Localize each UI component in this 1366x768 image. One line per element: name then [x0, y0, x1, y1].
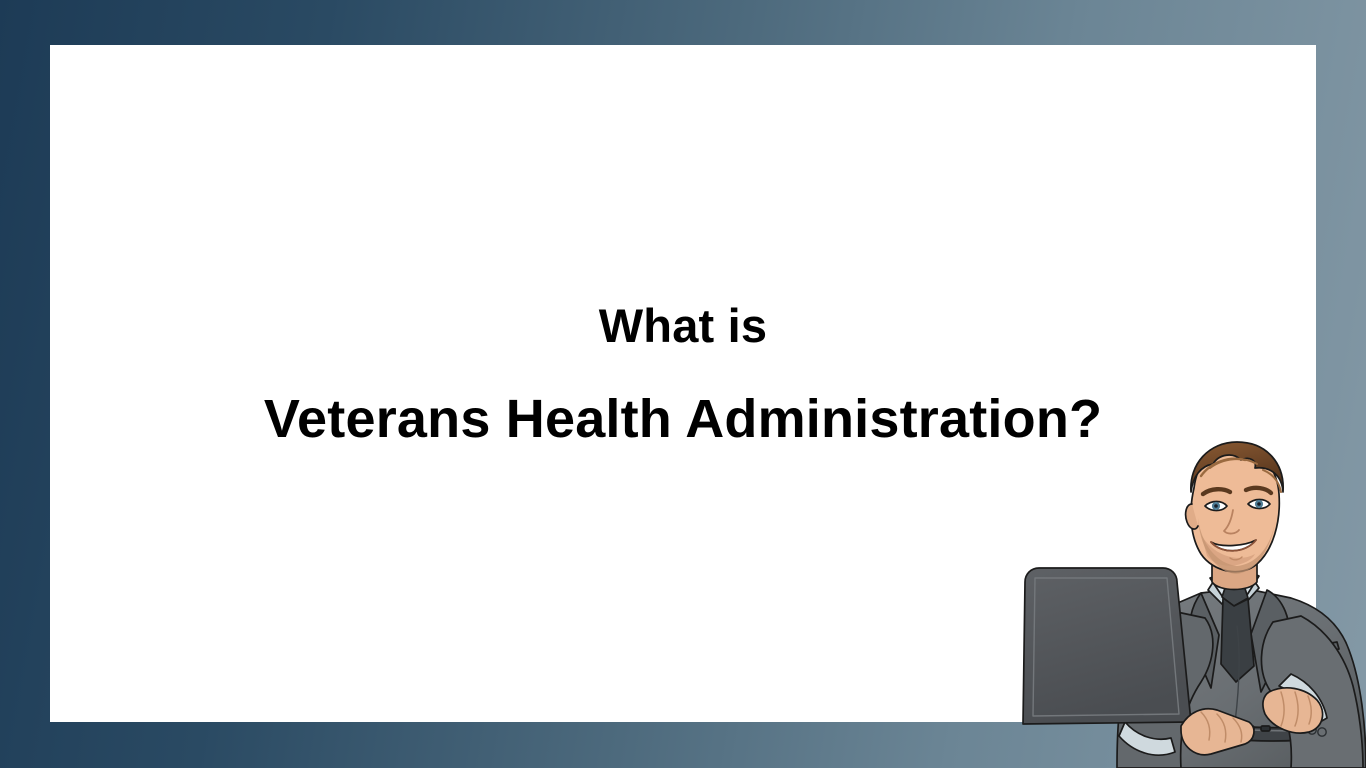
presentation-slide: What is Veterans Health Administration?: [0, 0, 1366, 768]
slide-content-card: What is Veterans Health Administration?: [50, 45, 1316, 722]
title-line-2: Veterans Health Administration?: [50, 390, 1316, 449]
title-line-1: What is: [50, 300, 1316, 352]
cuff-buttons: [1288, 722, 1326, 736]
